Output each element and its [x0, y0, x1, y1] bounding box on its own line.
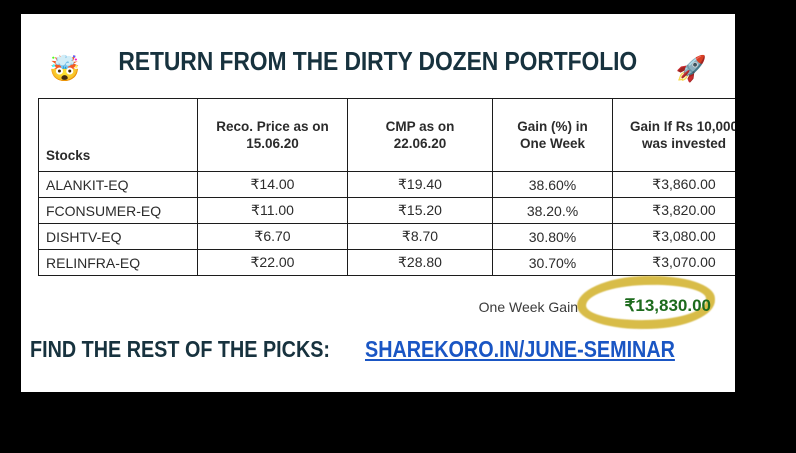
- cell-gain-percent: 38.20.%: [493, 198, 613, 224]
- column-header-gain-percent: Gain (%) in One Week: [493, 99, 613, 172]
- cell-cmp: ₹15.20: [348, 198, 493, 224]
- table-header-row: Stocks Reco. Price as on 15.06.20 CMP as…: [39, 99, 736, 172]
- column-header-reco-line1: Reco. Price as on: [216, 119, 329, 134]
- cell-stock: ALANKIT-EQ: [39, 172, 198, 198]
- cell-cmp: ₹19.40: [348, 172, 493, 198]
- screenshot-canvas: 🤯RETURN FROM THE DIRTY DOZEN PORTFOLIO🚀 …: [0, 0, 796, 453]
- total-gain-row: One Week Gain ₹13,830.00: [21, 296, 735, 322]
- cell-gain-amount: ₹3,070.00: [613, 250, 736, 276]
- cell-gain-percent: 30.70%: [493, 250, 613, 276]
- rocket-icon: 🚀: [676, 54, 707, 83]
- column-header-cmp: CMP as on 22.06.20: [348, 99, 493, 172]
- footer-label: FIND THE REST OF THE PICKS:: [30, 336, 330, 363]
- total-gain-value: ₹13,830.00: [625, 296, 711, 316]
- cell-gain-amount: ₹3,080.00: [613, 224, 736, 250]
- returns-table: Stocks Reco. Price as on 15.06.20 CMP as…: [38, 98, 735, 276]
- cell-reco-price: ₹14.00: [198, 172, 348, 198]
- exploding-head-icon: 🤯: [49, 54, 80, 83]
- table-header: Stocks Reco. Price as on 15.06.20 CMP as…: [39, 99, 736, 172]
- cell-gain-amount: ₹3,820.00: [613, 198, 736, 224]
- column-header-stocks: Stocks: [39, 99, 198, 172]
- table-row: ALANKIT-EQ ₹14.00 ₹19.40 38.60% ₹3,860.0…: [39, 172, 736, 198]
- cell-reco-price: ₹11.00: [198, 198, 348, 224]
- total-gain-label: One Week Gain: [479, 299, 578, 315]
- cell-gain-amount: ₹3,860.00: [613, 172, 736, 198]
- cell-reco-price: ₹22.00: [198, 250, 348, 276]
- table-row: DISHTV-EQ ₹6.70 ₹8.70 30.80% ₹3,080.00: [39, 224, 736, 250]
- column-header-gain-amount: Gain If Rs 10,000 was invested: [613, 99, 736, 172]
- column-header-gainamt-line1: Gain If Rs 10,000: [630, 119, 735, 134]
- column-header-reco-price: Reco. Price as on 15.06.20: [198, 99, 348, 172]
- footer-link[interactable]: SHAREKORO.IN/JUNE-SEMINAR: [365, 336, 675, 363]
- column-header-stocks-label: Stocks: [46, 148, 90, 163]
- table-row: FCONSUMER-EQ ₹11.00 ₹15.20 38.20.% ₹3,82…: [39, 198, 736, 224]
- cell-stock: FCONSUMER-EQ: [39, 198, 198, 224]
- column-header-reco-line2: 15.06.20: [246, 136, 299, 151]
- page-title: 🤯RETURN FROM THE DIRTY DOZEN PORTFOLIO🚀: [21, 46, 735, 81]
- footer-cta: FIND THE REST OF THE PICKS:SHAREKORO.IN/…: [21, 336, 735, 363]
- cell-gain-percent: 38.60%: [493, 172, 613, 198]
- promo-card: 🤯RETURN FROM THE DIRTY DOZEN PORTFOLIO🚀 …: [21, 14, 735, 392]
- page-title-text: RETURN FROM THE DIRTY DOZEN PORTFOLIO: [119, 46, 638, 77]
- cell-stock: DISHTV-EQ: [39, 224, 198, 250]
- column-header-gainpct-line2: One Week: [520, 136, 585, 151]
- column-header-gainpct-line1: Gain (%) in: [517, 119, 588, 134]
- column-header-cmp-line2: 22.06.20: [394, 136, 447, 151]
- column-header-gainamt-line2: was invested: [642, 136, 726, 151]
- cell-gain-percent: 30.80%: [493, 224, 613, 250]
- cell-reco-price: ₹6.70: [198, 224, 348, 250]
- table-row: RELINFRA-EQ ₹22.00 ₹28.80 30.70% ₹3,070.…: [39, 250, 736, 276]
- cell-cmp: ₹8.70: [348, 224, 493, 250]
- column-header-cmp-line1: CMP as on: [386, 119, 455, 134]
- cell-cmp: ₹28.80: [348, 250, 493, 276]
- table-body: ALANKIT-EQ ₹14.00 ₹19.40 38.60% ₹3,860.0…: [39, 172, 736, 276]
- cell-stock: RELINFRA-EQ: [39, 250, 198, 276]
